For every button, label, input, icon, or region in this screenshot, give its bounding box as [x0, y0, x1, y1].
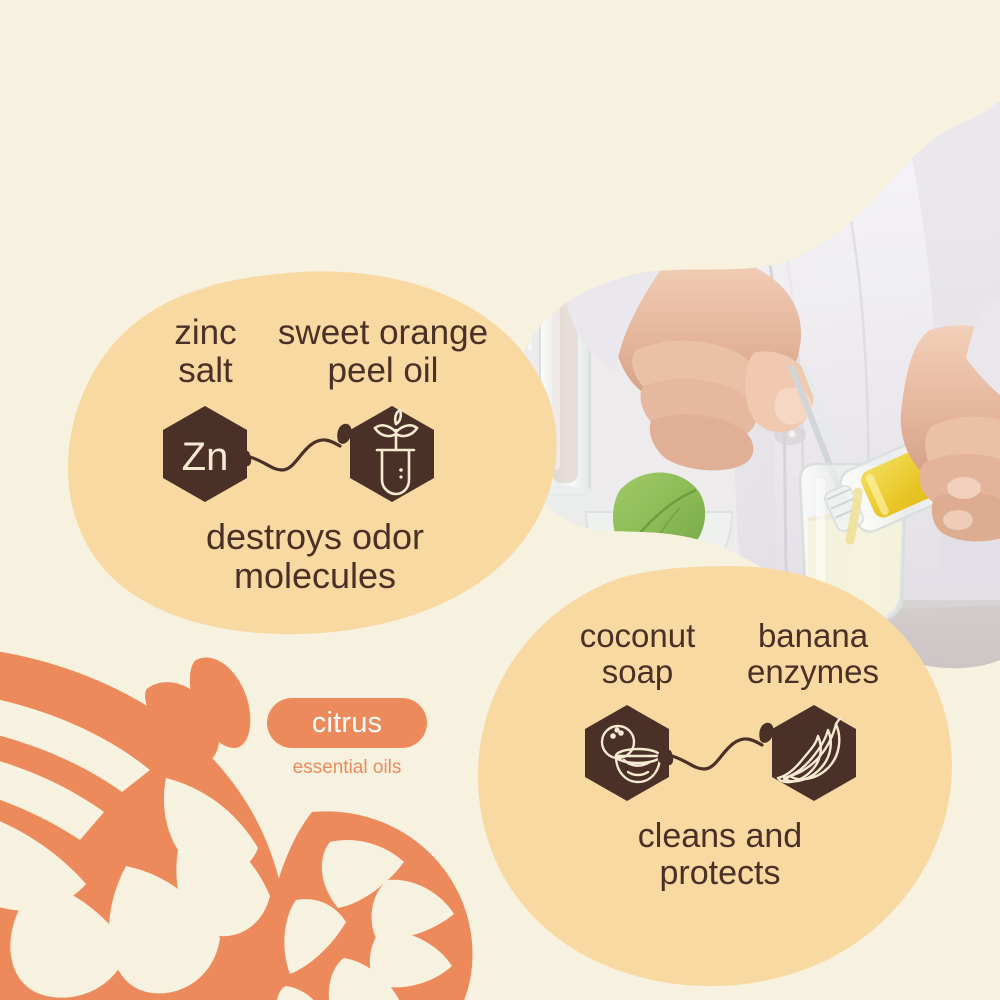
coconut-soap-label: coconut soap [540, 618, 735, 689]
sweet-orange-peel-oil-label: sweet orange peel oil [258, 314, 508, 390]
citrus-badge[interactable]: citrus [267, 698, 427, 748]
vine-bond-connector [658, 723, 774, 769]
bottom-card-caption: cleans and protects [560, 818, 880, 891]
top-card-caption: destroys odor molecules [120, 518, 510, 596]
poster-canvas: Zn [0, 0, 1000, 1000]
banana-hexagon-icon [772, 705, 856, 801]
citrus-badge-label: citrus [312, 707, 383, 740]
essential-oils-subtitle: essential oils [257, 757, 437, 779]
coconut-hexagon-icon [585, 705, 669, 801]
banana-enzymes-label: banana enzymes [718, 618, 908, 689]
